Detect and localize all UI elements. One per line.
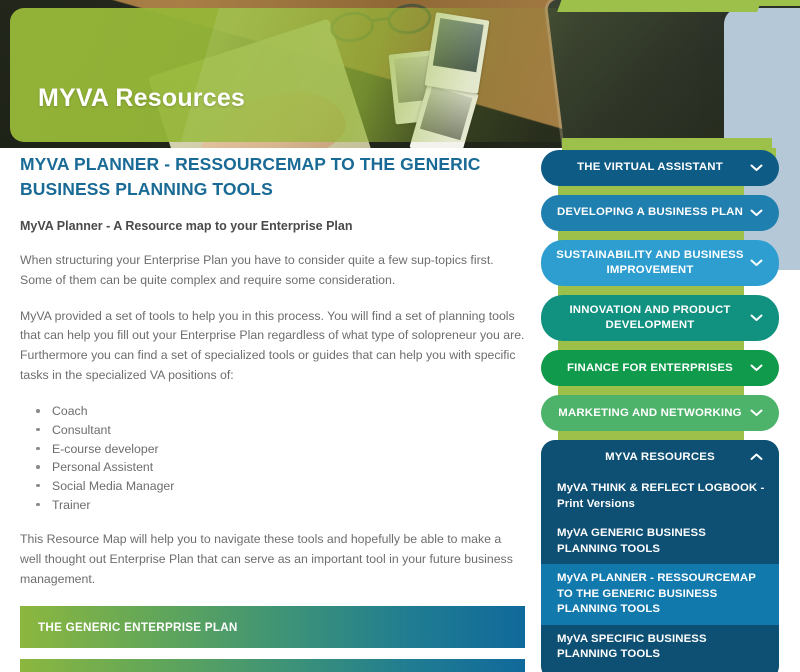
- sidebar-item-developing-a-business-plan[interactable]: DEVELOPING A BUSINESS PLAN: [541, 195, 779, 231]
- accordion-bar-foundations[interactable]: FOUNDATIONS: [20, 659, 525, 672]
- main-content: MYVA PLANNER - RESSOURCEMAP TO THE GENER…: [20, 152, 525, 672]
- sidebar-item-label: MYVA RESOURCES: [605, 450, 715, 465]
- sidebar-item-finance-for-enterprises[interactable]: FINANCE FOR ENTERPRISES: [541, 350, 779, 386]
- lead-subtitle: MyVA Planner - A Resource map to your En…: [20, 219, 525, 233]
- hero-banner: [0, 0, 800, 148]
- sidebar-item-myva-resources-header[interactable]: MYVA RESOURCES: [541, 440, 779, 474]
- list-item: Personal Assistent: [20, 458, 525, 477]
- paragraph-2: MyVA provided a set of tools to help you…: [20, 307, 525, 387]
- page-root: MYVA Resources MYVA PLANNER - RESSOURCEM…: [0, 0, 800, 672]
- sidebar-item-label: DEVELOPING A BUSINESS PLAN: [557, 205, 743, 220]
- chevron-down-icon: [750, 314, 763, 322]
- list-item: Coach: [20, 402, 525, 421]
- sidebar-navigation: THE VIRTUAL ASSISTANT DEVELOPING A BUSIN…: [530, 150, 800, 672]
- sidebar-item-label: MARKETING AND NETWORKING: [558, 406, 741, 421]
- chevron-up-icon: [750, 453, 763, 461]
- sidebar-item-label: SUSTAINABILITY AND BUSINESS IMPROVEMENT: [555, 248, 745, 278]
- paragraph-1: When structuring your Enterprise Plan yo…: [20, 251, 525, 291]
- chevron-down-icon: [750, 209, 763, 217]
- list-item: Social Media Manager: [20, 477, 525, 496]
- list-item: Trainer: [20, 496, 525, 515]
- list-item: E-course developer: [20, 440, 525, 459]
- va-positions-list: Coach Consultant E-course developer Pers…: [20, 402, 525, 514]
- accordion-bar-label: THE GENERIC ENTERPRISE PLAN: [20, 621, 238, 634]
- sidebar-subitem-think-reflect-logbook[interactable]: MyVA THINK & REFLECT LOGBOOK - Print Ver…: [541, 474, 779, 519]
- accordion-bar-generic-enterprise-plan[interactable]: THE GENERIC ENTERPRISE PLAN: [20, 606, 525, 648]
- chevron-down-icon: [750, 364, 763, 372]
- sidebar-sublist: MyVA THINK & REFLECT LOGBOOK - Print Ver…: [541, 474, 779, 670]
- sidebar-item-label: INNOVATION AND PRODUCT DEVELOPMENT: [555, 303, 745, 333]
- paragraph-3: This Resource Map will help you to navig…: [20, 530, 525, 590]
- sidebar-subitem-generic-business-planning-tools[interactable]: MyVA GENERIC BUSINESS PLANNING TOOLS: [541, 519, 779, 564]
- sidebar-item-the-virtual-assistant[interactable]: THE VIRTUAL ASSISTANT: [541, 150, 779, 186]
- list-item: Consultant: [20, 421, 525, 440]
- sidebar-item-innovation-and-product-development[interactable]: INNOVATION AND PRODUCT DEVELOPMENT: [541, 295, 779, 341]
- sidebar-subitem-planner-ressourcemap[interactable]: MyVA PLANNER - RESSOURCEMAP TO THE GENER…: [541, 564, 779, 625]
- sidebar-item-marketing-and-networking[interactable]: MARKETING AND NETWORKING: [541, 395, 779, 431]
- chevron-down-icon: [750, 164, 763, 172]
- chevron-down-icon: [750, 259, 763, 267]
- sidebar-item-myva-resources-expanded: MYVA RESOURCES MyVA THINK & REFLECT LOGB…: [541, 440, 779, 672]
- sidebar-subitem-specific-business-planning-tools[interactable]: MyVA SPECIFIC BUSINESS PLANNING TOOLS: [541, 625, 779, 670]
- decorative-bar-top: [628, 0, 800, 6]
- sidebar-item-label: FINANCE FOR ENTERPRISES: [567, 361, 733, 376]
- hero-title: MYVA Resources: [38, 84, 245, 113]
- chevron-down-icon: [750, 409, 763, 417]
- sidebar-item-label: THE VIRTUAL ASSISTANT: [577, 160, 723, 175]
- page-title: MYVA PLANNER - RESSOURCEMAP TO THE GENER…: [20, 152, 525, 203]
- sidebar-item-sustainability-and-business-improvement[interactable]: SUSTAINABILITY AND BUSINESS IMPROVEMENT: [541, 240, 779, 286]
- hero-green-overlay: [10, 8, 700, 142]
